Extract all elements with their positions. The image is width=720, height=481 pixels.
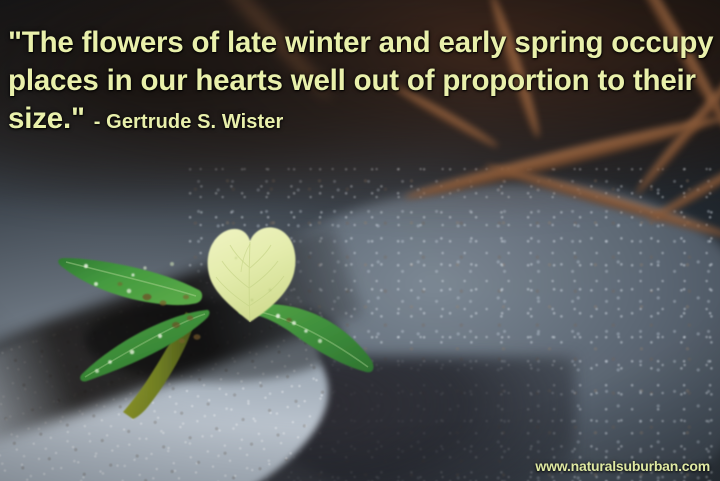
quote-line-1: "The flowers of late winter and early sp… [8,24,714,62]
quote-text-block: "The flowers of late winter and early sp… [8,24,714,141]
watermark-url: www.naturalsuburban.com [535,458,710,474]
quote-image: "The flowers of late winter and early sp… [0,0,720,481]
quote-line-2: places in our hearts well out of proport… [8,62,714,100]
quote-attribution: - Gertrude S. Wister [94,103,284,141]
quote-line-3-row: size." - Gertrude S. Wister [8,100,714,141]
quote-line-3: size." [8,100,85,138]
